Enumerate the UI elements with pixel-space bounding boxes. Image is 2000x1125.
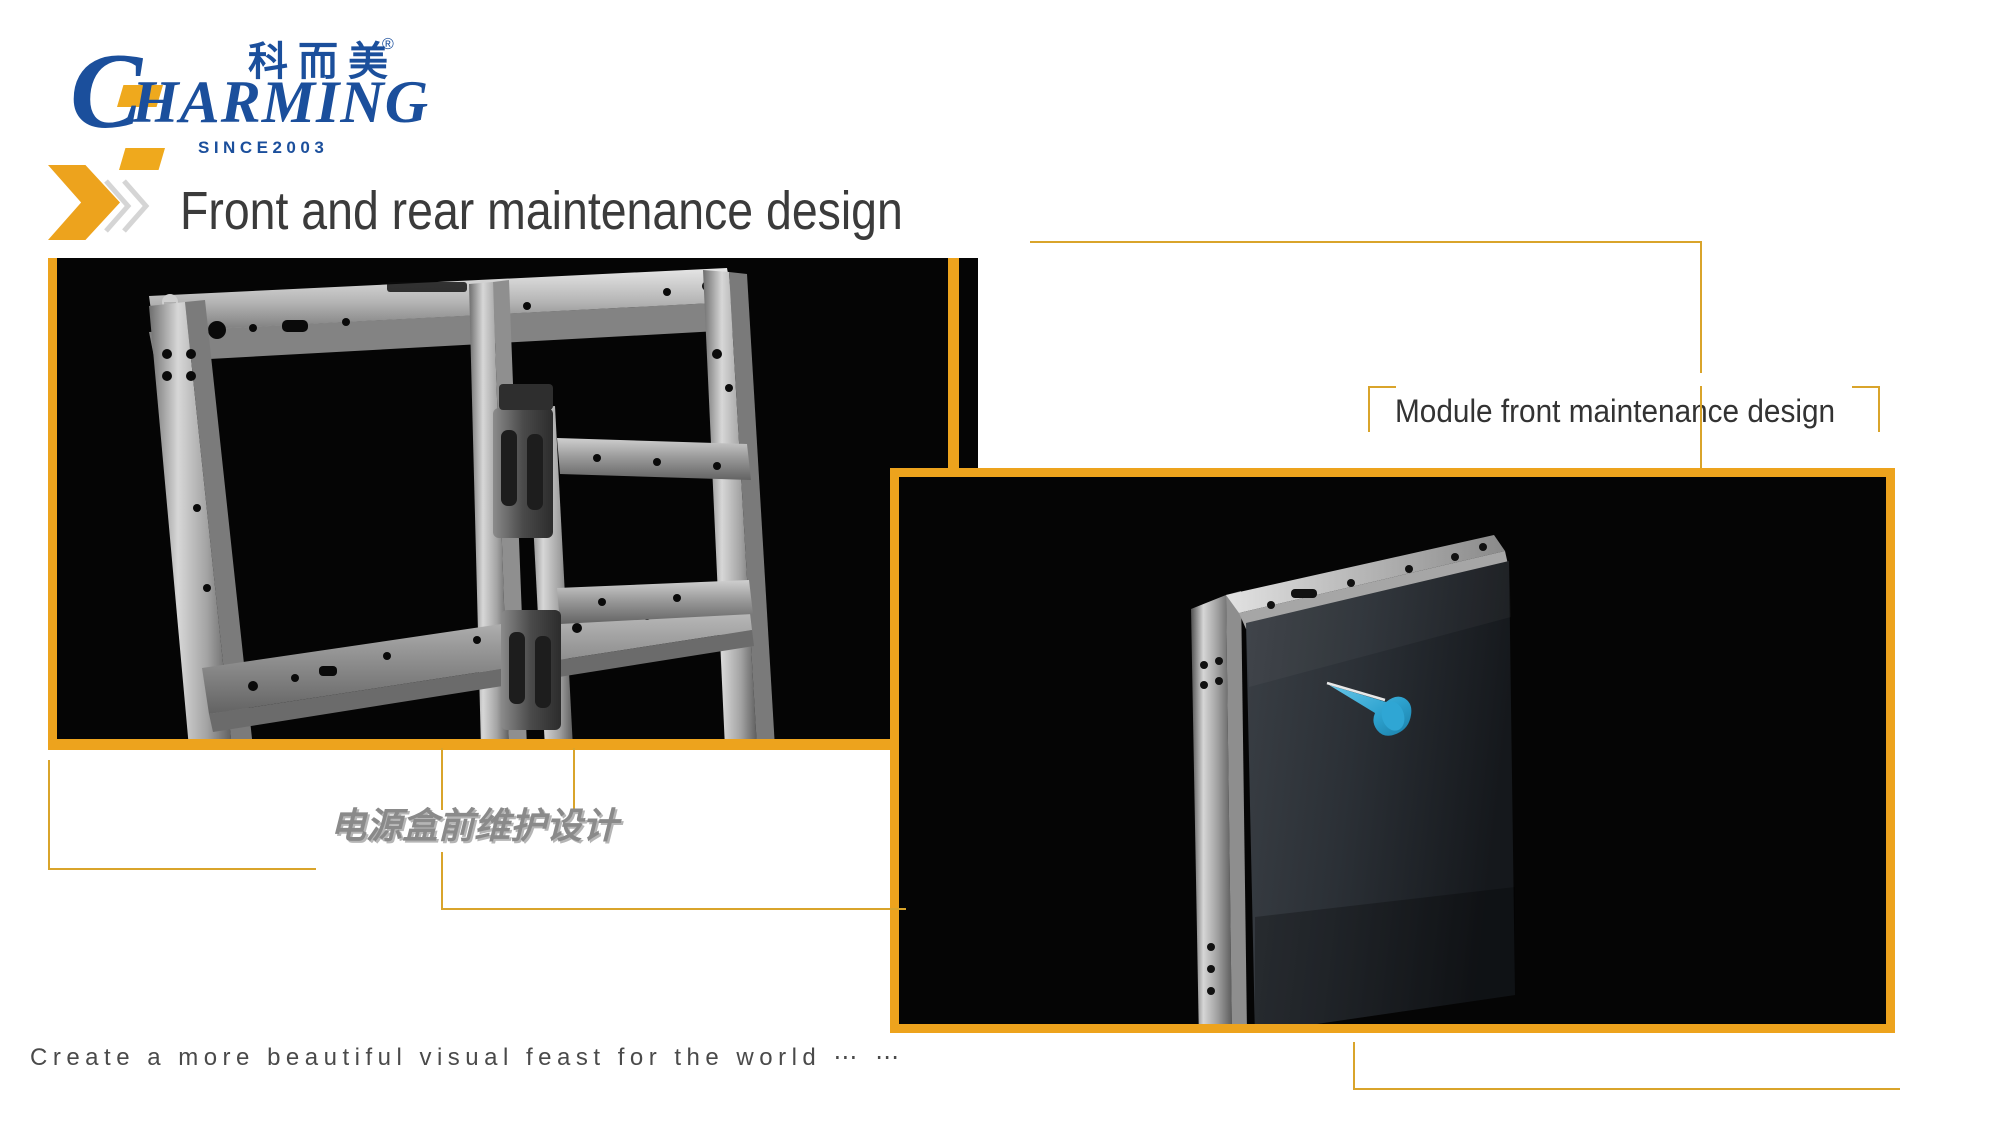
cabinet-frame-illustration [57, 258, 978, 748]
led-module-panel[interactable] [890, 468, 1895, 1033]
right-label-bracket-right-vertical [1878, 386, 1880, 432]
registered-trademark-icon: ® [382, 36, 394, 54]
charming-logo: C HARMING 科而美 ® SINCE2003 [70, 30, 410, 145]
power-box-front-maintenance-label: 电源盒前维护设计 [330, 805, 618, 849]
slide-canvas: C HARMING 科而美 ® SINCE2003 Front and rear… [0, 0, 2000, 1125]
cabinet-frame-photo [57, 258, 978, 739]
module-front-maintenance-label: Module front maintenance design [1395, 392, 1835, 430]
bottom-bracket-vertical [1353, 1042, 1355, 1090]
led-module-photo [899, 477, 1886, 1024]
left-label-bracket-horizontal [48, 868, 316, 870]
callout-line-top-horizontal [1030, 241, 1702, 243]
logo-since-text: SINCE2003 [198, 138, 328, 158]
callout-line-top-vertical [1700, 241, 1702, 373]
double-chevron-right-icon [100, 175, 152, 237]
left-label-tick-top-a [441, 748, 443, 810]
logo-chinese-name: 科而美 [248, 42, 398, 82]
footer-tagline: Create a more beautiful visual feast for… [30, 1043, 905, 1073]
left-label-bottom-horizontal [441, 908, 906, 910]
led-module-illustration [899, 477, 1895, 1033]
right-label-bracket-left-horizontal [1368, 386, 1396, 388]
page-title: Front and rear maintenance design [180, 180, 903, 242]
bottom-bracket-horizontal [1353, 1088, 1900, 1090]
left-panel-bottom-border [48, 739, 958, 750]
logo-letter-c: C [70, 38, 140, 146]
left-label-tick-top-b [573, 748, 575, 810]
right-label-bracket-right-horizontal [1852, 386, 1880, 388]
cabinet-frame-panel[interactable] [48, 258, 978, 748]
left-label-bracket-vertical [48, 760, 50, 870]
logo-gold-accent-bottom-icon [119, 148, 165, 170]
right-label-drop-line [1700, 386, 1702, 468]
right-label-bracket-left-vertical [1368, 386, 1370, 432]
left-label-tick-bottom [441, 852, 443, 910]
